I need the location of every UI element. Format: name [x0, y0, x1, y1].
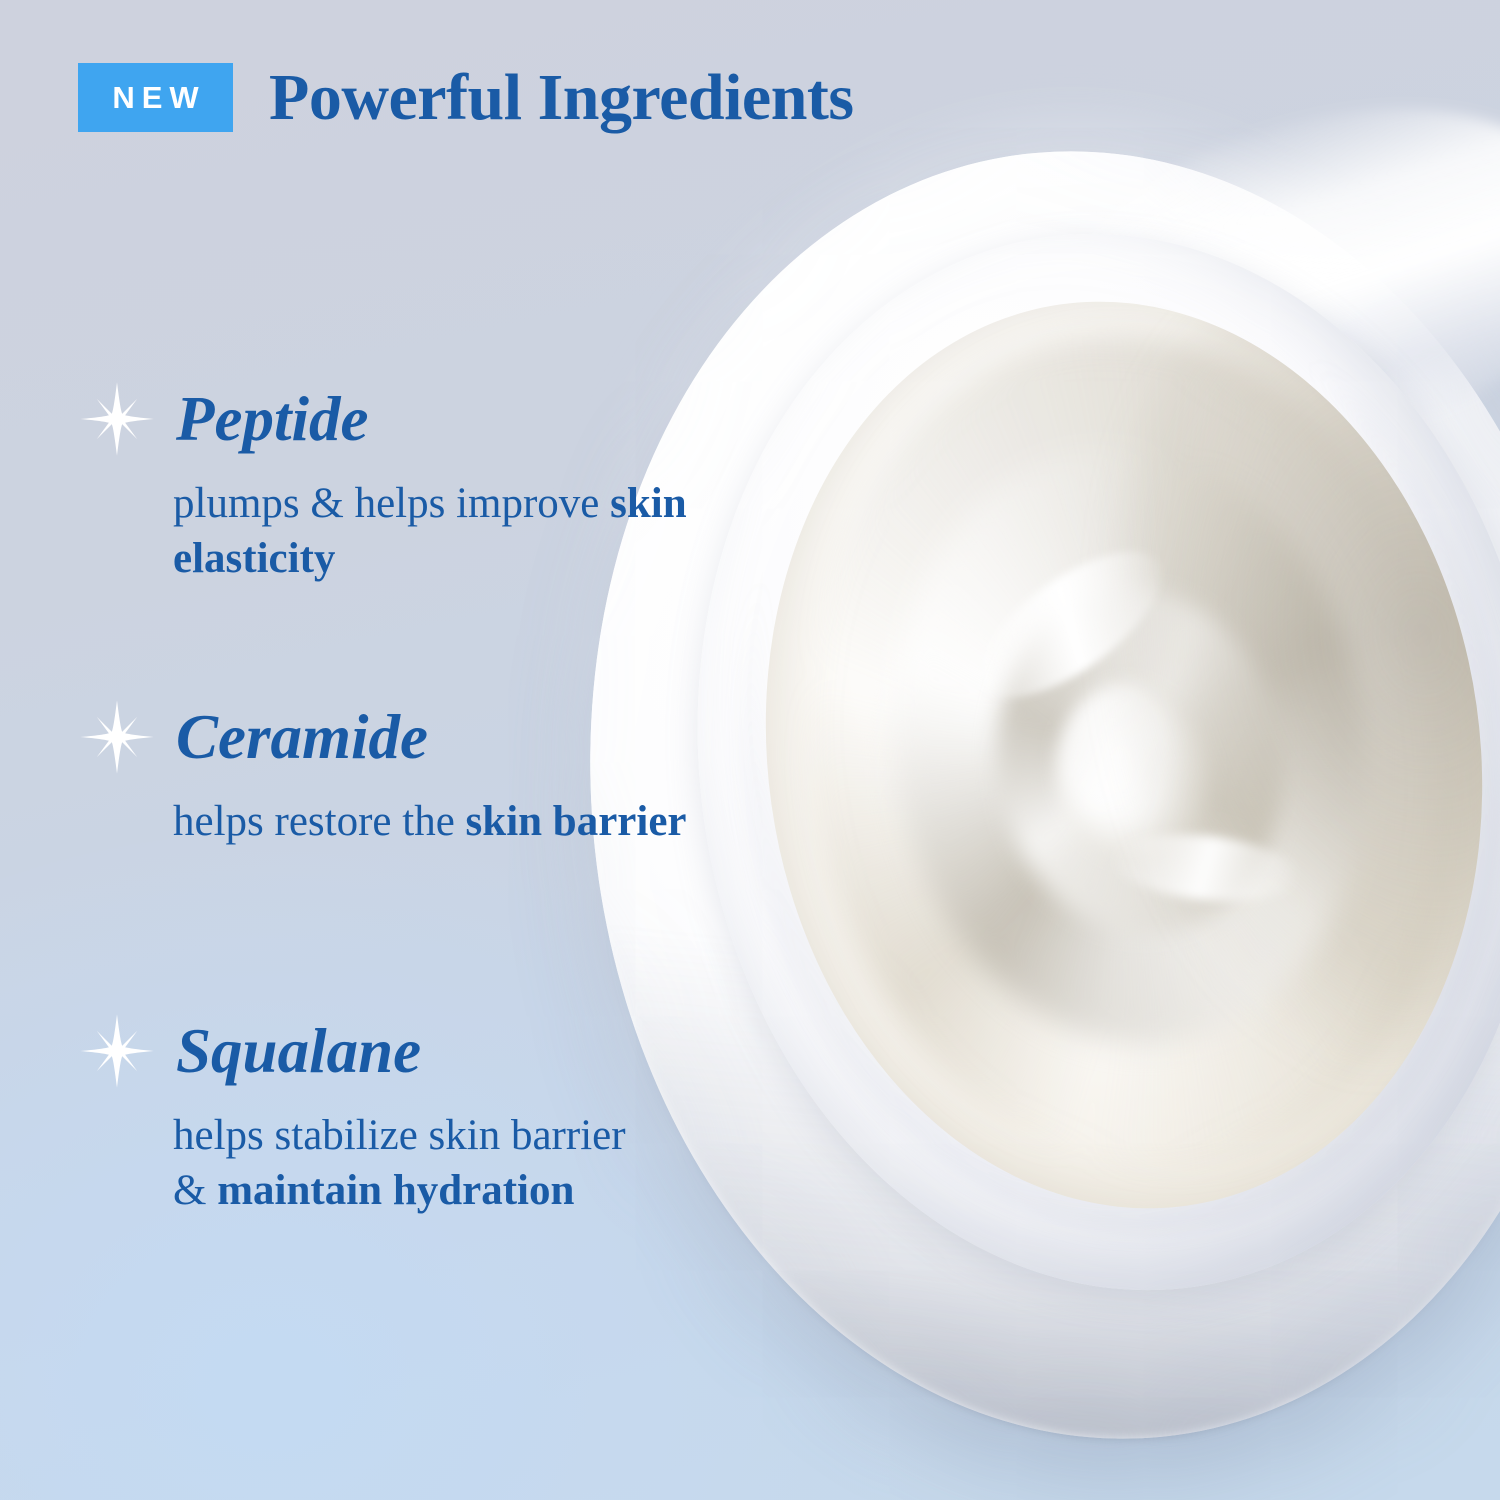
list-item: Peptide plumps & helps improve skin elas…	[78, 380, 738, 586]
cream-highlight-upper	[957, 525, 1183, 724]
sparkle-star-icon	[78, 1012, 156, 1090]
description-plain: helps restore the	[173, 798, 466, 845]
cream-swirl-outer	[756, 293, 1500, 1213]
jar-lid-edge	[1005, 49, 1500, 521]
list-item: Squalane helps stabilize skin barrier & …	[78, 1012, 738, 1218]
new-badge: NEW	[78, 63, 233, 132]
ingredient-name: Ceramide	[176, 706, 428, 769]
ingredient-heading-row: Peptide	[78, 380, 738, 458]
cream-swirl-middle	[855, 415, 1404, 1075]
ingredient-name: Peptide	[176, 388, 368, 451]
description-plain: plumps & helps improve	[173, 480, 610, 527]
ingredient-heading-row: Ceramide	[78, 698, 738, 776]
ingredient-description: helps stabilize skin barrier & maintain …	[173, 1108, 643, 1218]
ingredient-description: helps restore the skin barrier	[173, 794, 713, 849]
cream-surface	[708, 255, 1500, 1255]
sparkle-star-icon	[78, 380, 156, 458]
ingredient-description: plumps & helps improve skin elasticity	[173, 476, 713, 586]
jar-inner-wall	[630, 179, 1500, 1346]
ingredient-name: Squalane	[176, 1020, 421, 1083]
page-title: Powerful Ingredients	[269, 65, 854, 131]
content-column: NEW Powerful Ingredients Peptide p	[0, 0, 760, 1500]
description-bold: skin barrier	[466, 798, 687, 845]
header: NEW Powerful Ingredients	[78, 63, 854, 132]
cream-swirl-peak	[1043, 671, 1223, 873]
jar-inner-recess-shadow	[679, 228, 1500, 1284]
cream-highlight-lower	[1109, 826, 1300, 909]
cream-shadow	[1063, 267, 1500, 1097]
description-bold: maintain hydration	[217, 1167, 574, 1214]
list-item: Ceramide helps restore the skin barrier	[78, 698, 738, 849]
ingredient-heading-row: Squalane	[78, 1012, 738, 1090]
product-feature-image: NEW Powerful Ingredients Peptide p	[0, 0, 1500, 1500]
cream-swirl-inner	[974, 571, 1304, 953]
sparkle-star-icon	[78, 698, 156, 776]
